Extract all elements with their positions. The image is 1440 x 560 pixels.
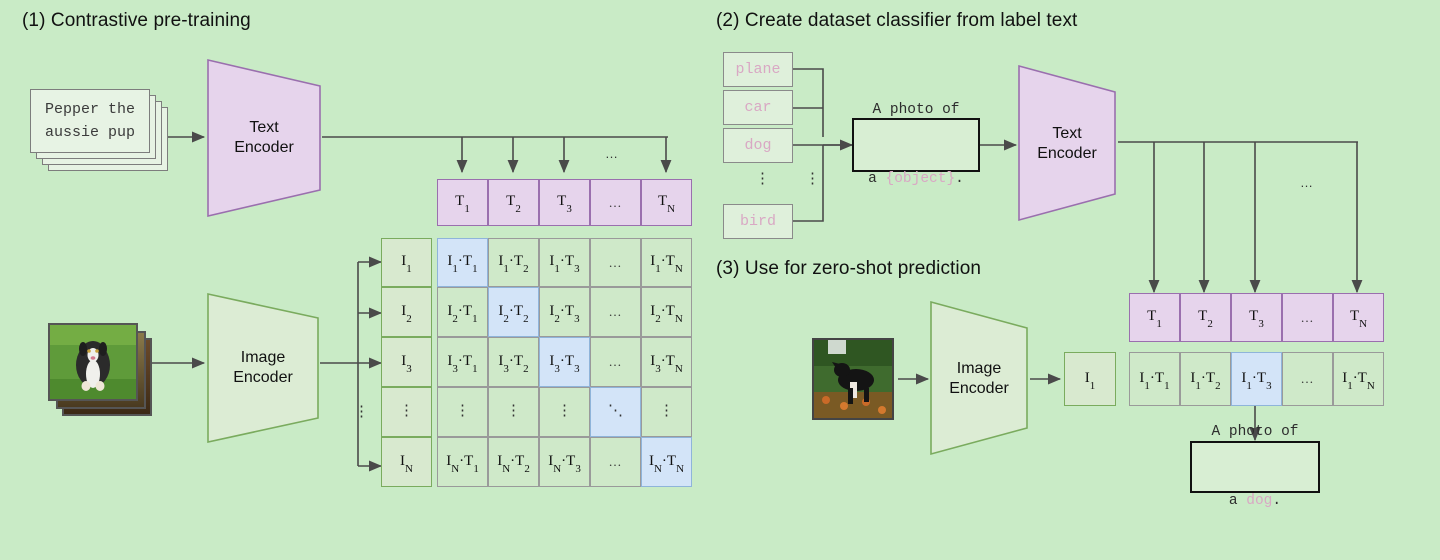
test-image-thumbnail (812, 338, 894, 420)
label-item-plane[interactable]: plane (723, 52, 793, 87)
text-embedding-ellipsis: … (590, 179, 641, 226)
image-embedding-ellipsis: ⋮ (381, 387, 432, 437)
text-embedding-tn: TN (641, 179, 692, 226)
prompt-template-line2: a {object}. (868, 168, 964, 191)
matrix-cell-r3-c3: I3·T3 (539, 337, 590, 387)
matrix-cell-r4-c4: ⋱ (590, 387, 641, 437)
score-cell-1: I1·T1 (1129, 352, 1180, 406)
matrix-cell-r4-c1: ⋮ (437, 387, 488, 437)
section-3-title: (3) Use for zero-shot prediction (716, 258, 981, 280)
matrix-cell-r2-c2: I2·T2 (488, 287, 539, 337)
prediction-token: dog (1246, 493, 1272, 509)
matrix-cell-r1-c5: I1·TN (641, 238, 692, 287)
section-2-title: (2) Create dataset classifier from label… (716, 10, 1077, 32)
image-encoder-3: Image Encoder (928, 300, 1030, 458)
matrix-cell-r4-c5: ⋮ (641, 387, 692, 437)
matrix-cell-r2-c3: I2·T3 (539, 287, 590, 337)
matrix-cell-r5-c4: … (590, 437, 641, 487)
image-encoder-1: Image Encoder (204, 292, 322, 444)
puppy-photo (50, 325, 136, 399)
prompt-template-token: {object} (886, 171, 956, 187)
matrix-cell-r2-c4: … (590, 287, 641, 337)
clip-diagram: (1) Contrastive pre-training Pepper the … (0, 0, 1440, 513)
matrix-cell-r1-c4: … (590, 238, 641, 287)
text-encoder-1-line1: Text (234, 118, 294, 138)
section-1-title: (1) Contrastive pre-training (22, 10, 251, 32)
text-encoder-2-line2: Encoder (1037, 144, 1097, 164)
label-item-bird[interactable]: bird (723, 204, 793, 239)
text-bus-ellipsis-1: … (605, 146, 619, 161)
image-encoder-3-line2: Encoder (949, 379, 1009, 399)
prompt-template-box: A photo of a {object}. (852, 118, 980, 172)
prediction-result-box: A photo of a dog. (1190, 441, 1320, 493)
matrix-cell-r2-c5: I2·TN (641, 287, 692, 337)
test-image-embedding-i1: I1 (1064, 352, 1116, 406)
image-encoder-3-line1: Image (949, 359, 1009, 379)
classifier-weight-t1: T1 (1129, 293, 1180, 342)
matrix-cell-r1-c2: I1·T2 (488, 238, 539, 287)
text-encoder-1: Text Encoder (204, 58, 324, 218)
prediction-a: a (1229, 493, 1246, 509)
dog-photo (814, 340, 892, 418)
text-embedding-t2: T2 (488, 179, 539, 226)
prediction-period: . (1272, 493, 1281, 509)
score-cell-n: I1·TN (1333, 352, 1384, 406)
classifier-weight-tn: TN (1333, 293, 1384, 342)
text-encoder-1-line2: Encoder (234, 138, 294, 158)
matrix-cell-r1-c1: I1·T1 (437, 238, 488, 287)
image-embedding-i1: I1 (381, 238, 432, 287)
label-item-car[interactable]: car (723, 90, 793, 125)
caption-card: Pepper the aussie pup (30, 89, 150, 153)
matrix-cell-r5-c5: IN·TN (641, 437, 692, 487)
image-embedding-in: IN (381, 437, 432, 487)
prediction-line1: A photo of (1211, 421, 1298, 444)
matrix-cell-r3-c2: I3·T2 (488, 337, 539, 387)
image-embedding-i3: I3 (381, 337, 432, 387)
matrix-cell-r4-c3: ⋮ (539, 387, 590, 437)
matrix-cell-r5-c2: IN·T2 (488, 437, 539, 487)
text-encoder-2: Text Encoder (1016, 64, 1118, 224)
text-embedding-t1: T1 (437, 179, 488, 226)
image-encoder-1-line2: Encoder (233, 368, 293, 388)
prediction-line2: a dog. (1211, 490, 1298, 513)
matrix-cell-r3-c1: I3·T1 (437, 337, 488, 387)
matrix-cell-r1-c3: I1·T3 (539, 238, 590, 287)
matrix-cell-r5-c1: IN·T1 (437, 437, 488, 487)
matrix-cell-r4-c2: ⋮ (488, 387, 539, 437)
text-encoder-2-line1: Text (1037, 124, 1097, 144)
prompt-template-period: . (955, 171, 964, 187)
prompt-template-line1: A photo of (868, 99, 964, 122)
text-embedding-t3: T3 (539, 179, 590, 226)
training-image-thumbnail (48, 323, 138, 401)
text-bus-ellipsis-2: … (1300, 175, 1314, 190)
classifier-weight-t3: T3 (1231, 293, 1282, 342)
label-list-ellipsis-left: ⋮ (755, 172, 770, 186)
image-bus-ellipsis: ⋮ (354, 405, 369, 419)
classifier-weight-ellipsis: … (1282, 293, 1333, 342)
label-item-dog[interactable]: dog (723, 128, 793, 163)
matrix-cell-r2-c1: I2·T1 (437, 287, 488, 337)
prompt-template-a: a (868, 171, 885, 187)
matrix-cell-r3-c5: I3·TN (641, 337, 692, 387)
matrix-cell-r3-c4: … (590, 337, 641, 387)
image-embedding-i2: I2 (381, 287, 432, 337)
label-list-ellipsis-right: ⋮ (805, 172, 820, 186)
classifier-weight-t2: T2 (1180, 293, 1231, 342)
matrix-cell-r5-c3: IN·T3 (539, 437, 590, 487)
image-encoder-1-line1: Image (233, 348, 293, 368)
